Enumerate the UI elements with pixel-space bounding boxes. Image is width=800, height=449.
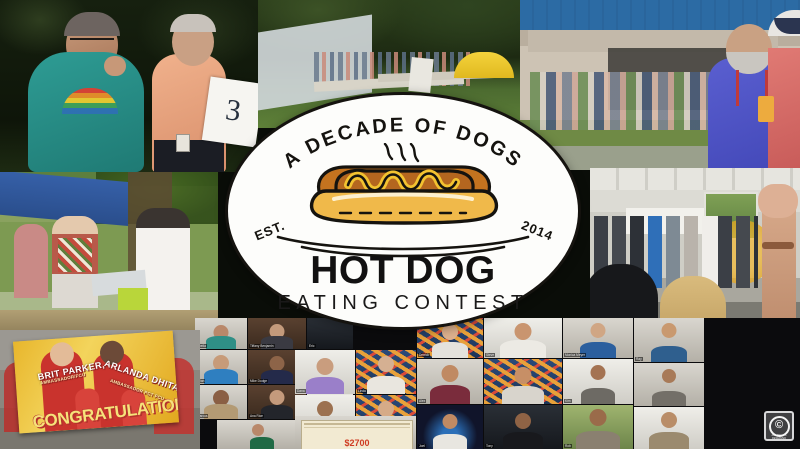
video-tile[interactable]: Steve <box>484 318 562 358</box>
participant-head <box>317 358 334 375</box>
participant-head <box>270 390 285 405</box>
photo-congratulations-title-card: BRIT PARKER, AMBASSADOR/FCU ARLANDA DHIT… <box>0 330 200 449</box>
participant-head <box>661 412 677 428</box>
participant-body <box>430 385 470 404</box>
participant-body <box>204 369 238 384</box>
video-tile[interactable] <box>217 420 307 449</box>
id-badge <box>176 134 190 152</box>
participant-head <box>515 413 531 429</box>
participant-body <box>576 431 620 449</box>
photo-contestant-eating-hotdog: 3 <box>0 0 258 172</box>
wristband <box>762 242 794 249</box>
video-title-card: 3 <box>0 0 800 449</box>
participant-name: Derrick <box>418 353 430 357</box>
check-line-secondary <box>304 427 410 428</box>
participant-body <box>367 376 405 394</box>
video-tile[interactable] <box>634 407 704 449</box>
watermark-caption: ALL RIGHTS RESERVED <box>766 434 792 440</box>
event-sign <box>408 57 433 93</box>
participant-name: Steve <box>485 353 495 357</box>
participant-name: Monica Meyer <box>564 353 586 357</box>
raised-hand <box>758 184 798 218</box>
video-conference-grid: Sheila Tiffany Benjamin Eric Brian Mike … <box>195 318 800 449</box>
participant-head <box>378 356 394 372</box>
participant-body <box>261 405 293 419</box>
participant-name: Mike Dodge <box>249 379 268 383</box>
contestant-hand <box>104 56 126 76</box>
oversized-donation-check: $2700 <box>301 420 413 449</box>
photo-office-group-photo <box>590 168 800 332</box>
participant-body <box>502 386 544 404</box>
participant-head <box>443 414 458 429</box>
video-tile[interactable]: Rob <box>563 405 633 449</box>
participant-body <box>432 342 468 358</box>
logo-title: HOT DOG <box>228 251 578 290</box>
video-tile[interactable]: Joel <box>417 405 483 449</box>
participant-body <box>433 434 467 449</box>
participant-body <box>204 404 238 419</box>
video-tile[interactable]: Kim <box>563 359 633 404</box>
participant-name: Alex <box>418 399 426 403</box>
participant-head <box>590 409 607 426</box>
woman-floral-top <box>52 216 98 308</box>
participant-body <box>649 432 689 449</box>
participant-head <box>270 356 285 371</box>
participant-head <box>662 323 677 338</box>
video-tile[interactable]: Brian <box>195 350 247 384</box>
video-tile[interactable]: Linda <box>356 350 416 394</box>
cap-brim <box>774 18 800 34</box>
participant-head <box>515 367 532 384</box>
participant-head <box>662 369 676 383</box>
participant-name: Tiffany Benjamin <box>249 344 275 348</box>
glasses-icon <box>70 38 114 47</box>
participant-head <box>378 401 394 417</box>
participant-body <box>250 437 274 449</box>
video-tile[interactable] <box>634 363 704 406</box>
participant-name: Ray <box>635 357 643 361</box>
logo-subtitle: EATING CONTEST <box>228 293 578 313</box>
video-tile[interactable]: Dana <box>295 350 355 394</box>
participant-head <box>317 401 333 417</box>
video-tile[interactable]: Monica Meyer <box>563 318 633 358</box>
participant-name: Dana <box>296 389 306 393</box>
participant-body <box>500 340 546 358</box>
participant-body <box>306 377 344 394</box>
participant-body <box>651 346 687 362</box>
drink-cup <box>758 96 774 122</box>
participant-head <box>591 323 606 338</box>
participant-body <box>652 391 686 406</box>
participant-body <box>503 432 543 449</box>
participant-name: Joel <box>418 444 426 448</box>
photo-tent-presentation <box>0 172 218 336</box>
hot-dog-illustration <box>306 143 502 231</box>
copyright-watermark-icon: © ALL RIGHTS RESERVED <box>764 411 794 441</box>
participant-head <box>252 424 264 436</box>
participant-name: Rob <box>564 444 572 448</box>
video-tile[interactable]: Ray <box>634 318 704 362</box>
check-amount: $2700 <box>302 438 412 448</box>
video-tile-donation-check[interactable]: $2700 <box>295 416 416 449</box>
participant-head <box>515 323 532 340</box>
participant-body <box>581 388 615 404</box>
participant-name: Tony <box>485 444 494 448</box>
background-person <box>14 224 48 298</box>
video-tile[interactable]: Alex <box>417 359 483 404</box>
participant-head <box>591 365 606 380</box>
congratulations-graphic: BRIT PARKER, AMBASSADOR/FCU ARLANDA DHIT… <box>13 331 179 434</box>
floral-pattern <box>58 238 92 272</box>
video-tile[interactable]: Marcus <box>195 385 247 419</box>
hot-dog-eating-contest-logo: A DECADE OF DOGS <box>225 92 581 330</box>
video-tile[interactable]: Sheila <box>195 318 247 349</box>
participant-name: Linda <box>357 389 367 393</box>
participant-head <box>442 365 459 382</box>
video-tile[interactable] <box>484 359 562 404</box>
participant-name: Kim <box>564 399 572 403</box>
check-line <box>304 423 410 425</box>
video-tile[interactable]: Tiffany Benjamin <box>248 318 306 349</box>
video-tile[interactable]: Tony <box>484 405 562 449</box>
participant-body <box>206 336 236 349</box>
participant-name: Eric <box>308 344 316 348</box>
participant-name: Ana Rice <box>249 414 264 418</box>
